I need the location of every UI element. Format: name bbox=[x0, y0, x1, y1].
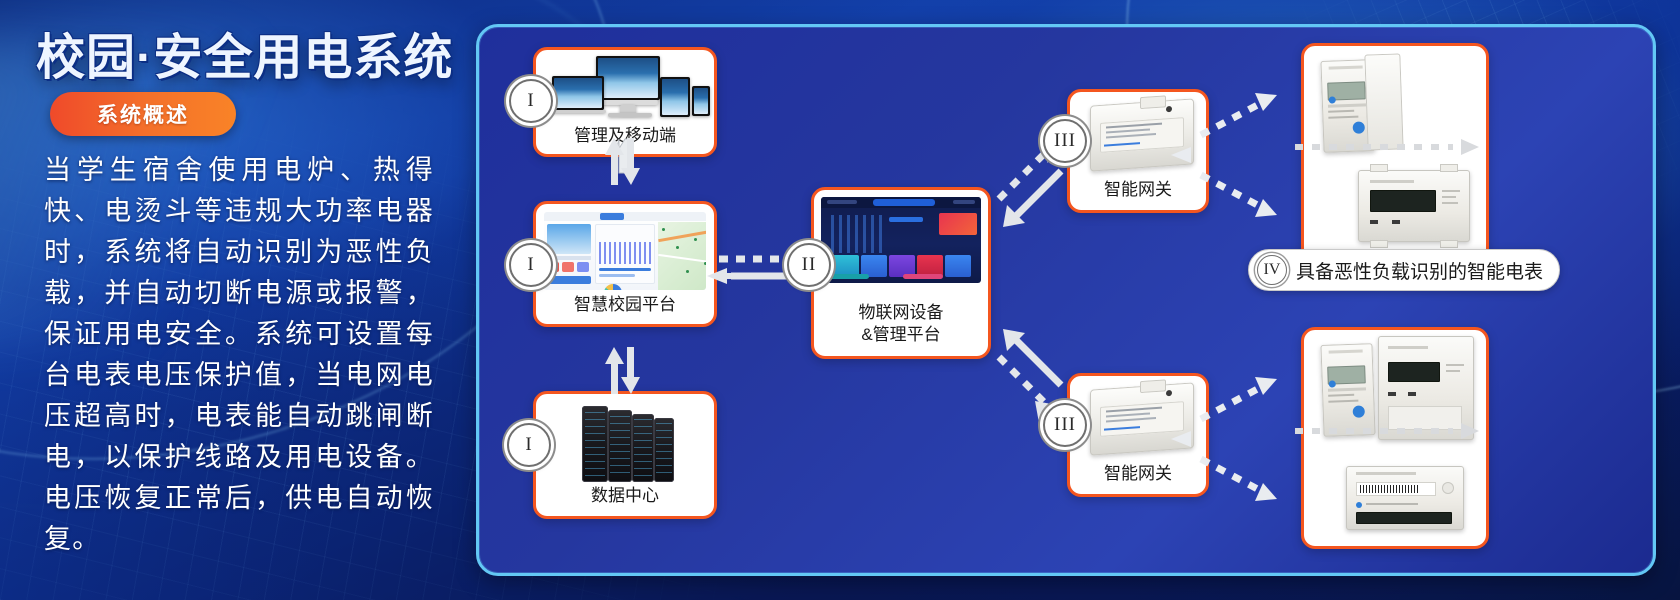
meter-internal-arrows bbox=[1285, 27, 1656, 576]
badge-admin-mobile: I bbox=[509, 79, 553, 123]
infographic-root: 校园·安全用电系统 系统概述 当学生宿舍使用电炉、热得快、电烫斗等违规大功率电器… bbox=[0, 0, 1680, 600]
badge-gateway-bottom: III bbox=[1043, 403, 1087, 447]
badge-iot-platform: II bbox=[787, 243, 831, 287]
overview-badge: 系统概述 bbox=[50, 92, 236, 136]
overview-column: 校园·安全用电系统 系统概述 当学生宿舍使用电炉、热得快、电烫斗等违规大功率电器… bbox=[0, 0, 470, 600]
meter-chip[interactable]: IV 具备恶性负载识别的智能电表 bbox=[1248, 249, 1560, 291]
meter-chip-label: 具备恶性负载识别的智能电表 bbox=[1296, 257, 1543, 284]
architecture-diagram-panel: 管理及移动端 I bbox=[476, 24, 1656, 576]
overview-body-text: 当学生宿舍使用电炉、热得快、电烫斗等违规大功率电器时，系统将自动识别为恶性负载，… bbox=[44, 150, 434, 560]
page-title: 校园·安全用电系统 bbox=[36, 18, 453, 89]
badge-meter-chip: IV bbox=[1257, 255, 1287, 285]
badge-data-center: I bbox=[507, 423, 551, 467]
badge-gateway-top: III bbox=[1043, 119, 1087, 163]
badge-smart-campus: I bbox=[509, 243, 553, 287]
